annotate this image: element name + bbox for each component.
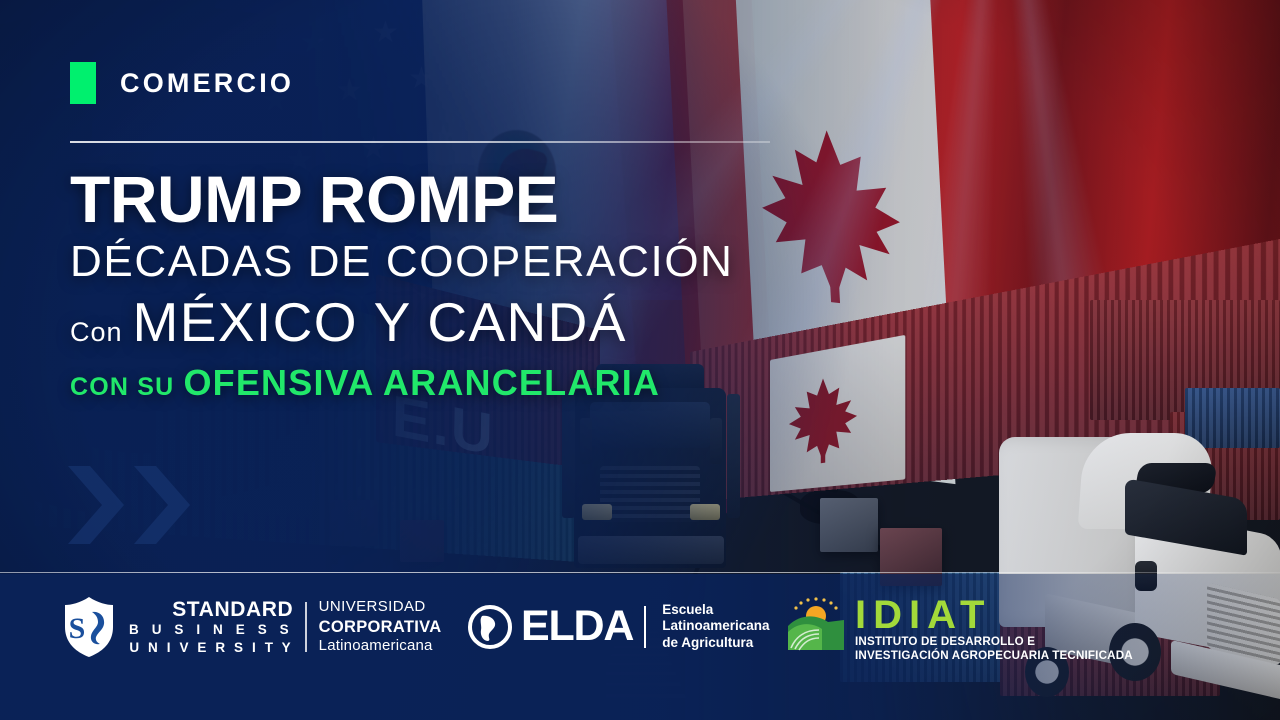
sbu-logo-divider [305, 602, 306, 652]
poster-canvas: ★ ★ ★ ★ ★ ★ ★ ★ ★ ★ ★ ★ ★ ★ ★ ★ ★ E.U [0, 0, 1280, 720]
kicker-label: COMERCIO [120, 68, 294, 99]
sbu-name-line-3: U N I V E R S I T Y [129, 639, 293, 657]
headline-line-3-prefix: Con [70, 317, 123, 348]
headline-line-3: Con MÉXICO Y CANDÁ [70, 290, 750, 354]
category-kicker: COMERCIO [70, 62, 294, 104]
foreground-layer: COMERCIO TRUMP ROMPE DÉCADAS DE COOPERAC… [0, 0, 1280, 720]
idiat-sub-line-2: INVESTIGACIÓN AGROPECUARIA TECNIFICADA [855, 649, 1133, 663]
headline-line-1: TRUMP ROMPE [70, 165, 750, 234]
sun-field-icon [786, 596, 846, 652]
sbu-name-line-1: STANDARD [129, 598, 293, 622]
header-divider [70, 141, 770, 143]
headline-line-4-main: OFENSIVA ARANCELARIA [183, 362, 660, 404]
svg-text:S: S [69, 612, 86, 645]
logo-standard-business-university: S STANDARD B U S I N E S S U N I V E R S… [62, 596, 441, 658]
logo-elda: ELDA Escuela Latinoamericana de Agricult… [468, 602, 770, 651]
headline-line-4-prefix: CON SU [70, 373, 174, 402]
footer-logos: S STANDARD B U S I N E S S U N I V E R S… [0, 574, 1280, 720]
elda-logo-divider [644, 606, 646, 648]
chevron-right-icon [128, 462, 192, 548]
sbu-name-line-2: B U S I N E S S [129, 621, 293, 639]
globe-icon [468, 605, 512, 649]
idiat-sub-line-1: INSTITUTO DE DESARROLLO E [855, 635, 1133, 649]
elda-wordmark: ELDA [521, 602, 633, 651]
idiat-wordmark: IDIAT [855, 596, 1133, 635]
elda-tag-line-1: Escuela [662, 602, 769, 618]
elda-tagline: Escuela Latinoamericana de Agricultura [662, 602, 769, 651]
sbu-tag-line-2: CORPORATIVA [319, 617, 442, 637]
sbu-wordmark: STANDARD B U S I N E S S U N I V E R S I… [129, 598, 441, 657]
kicker-accent-square [70, 62, 96, 104]
chevron-right-icon [62, 462, 126, 548]
headline-line-2: DÉCADAS DE COOPERACIÓN [70, 236, 750, 288]
sbu-tag-line-3: Latinoamericana [319, 637, 442, 656]
elda-tag-line-3: de Agricultura [662, 635, 769, 651]
headline-block: TRUMP ROMPE DÉCADAS DE COOPERACIÓN Con M… [70, 165, 750, 404]
headline-line-4: CON SU OFENSIVA ARANCELARIA [70, 362, 750, 404]
shield-icon: S [62, 596, 116, 658]
logo-idiat: IDIAT INSTITUTO DE DESARROLLO E INVESTIG… [786, 596, 1133, 663]
headline-line-3-main: MÉXICO Y CANDÁ [133, 290, 627, 354]
sbu-tag-line-1: UNIVERSIDAD [319, 598, 442, 617]
chevron-decoration [62, 462, 192, 548]
elda-tag-line-2: Latinoamericana [662, 618, 769, 634]
